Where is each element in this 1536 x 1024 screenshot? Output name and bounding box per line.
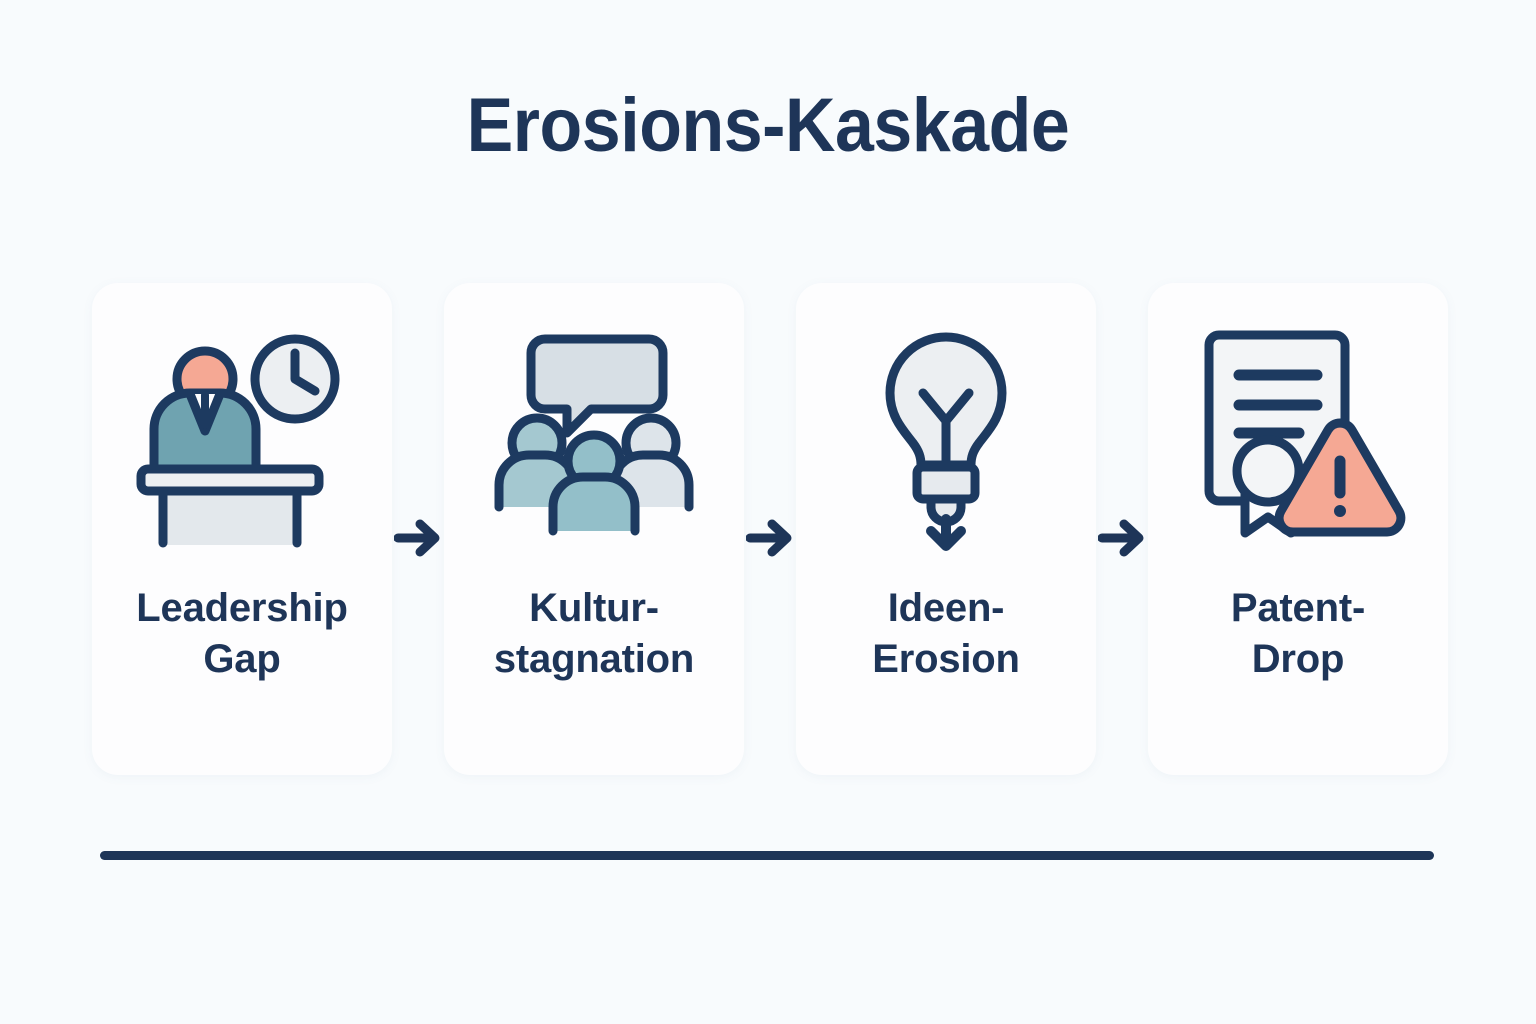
flow-step-label-line2: Drop bbox=[1156, 634, 1440, 685]
arrow-right-icon bbox=[394, 516, 442, 560]
flow-step-card-ideen-erosion[interactable]: Ideen- Erosion bbox=[796, 283, 1096, 775]
flow-cards-row: Leadership Gap bbox=[92, 283, 1448, 775]
flow-connector-1 bbox=[392, 283, 444, 775]
bottom-divider bbox=[100, 851, 1434, 860]
flow-step-label-line2: Gap bbox=[100, 634, 384, 685]
flow-connector-2 bbox=[744, 283, 796, 775]
lightbulb-with-down-arrow-icon bbox=[796, 283, 1096, 583]
arrow-right-icon bbox=[1098, 516, 1146, 560]
flow-step-label-line1: Patent- bbox=[1156, 583, 1440, 634]
certificate-with-warning-icon bbox=[1148, 283, 1448, 583]
flow-step-label-line1: Kultur- bbox=[452, 583, 736, 634]
flow-step-card-leadership-gap[interactable]: Leadership Gap bbox=[92, 283, 392, 775]
flow-connector-3 bbox=[1096, 283, 1148, 775]
flow-step-label: Ideen- Erosion bbox=[796, 583, 1096, 685]
diagram-canvas: Erosions-Kaskade bbox=[0, 0, 1536, 1024]
flow-step-card-patent-drop[interactable]: Patent- Drop bbox=[1148, 283, 1448, 775]
flow-step-card-kulturstagnation[interactable]: Kultur- stagnation bbox=[444, 283, 744, 775]
page-title: Erosions-Kaskade bbox=[61, 88, 1474, 164]
flow-step-label: Patent- Drop bbox=[1148, 583, 1448, 685]
flow-step-label-line1: Ideen- bbox=[804, 583, 1088, 634]
flow-step-label-line1: Leadership bbox=[100, 583, 384, 634]
flow-step-label: Leadership Gap bbox=[92, 583, 392, 685]
flow-step-label-line2: Erosion bbox=[804, 634, 1088, 685]
arrow-right-icon bbox=[746, 516, 794, 560]
flow-step-label-line2: stagnation bbox=[452, 634, 736, 685]
flow-step-label: Kultur- stagnation bbox=[444, 583, 744, 685]
executive-at-desk-with-clock-icon bbox=[92, 283, 392, 583]
people-group-with-speech-bubble-icon bbox=[444, 283, 744, 583]
